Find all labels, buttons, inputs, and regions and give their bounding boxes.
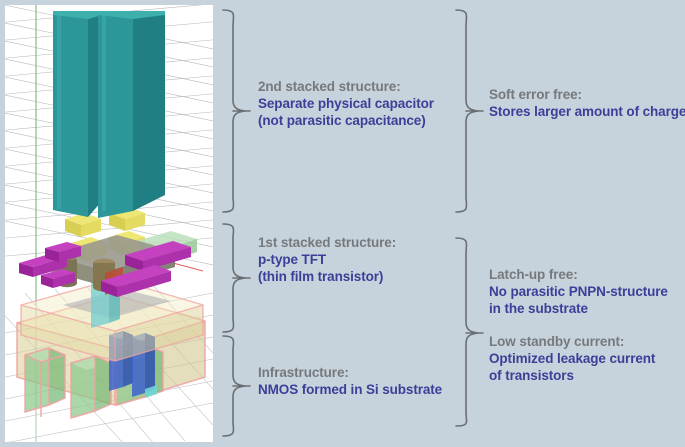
annotation-heading: 1st stacked structure: [258,234,396,251]
annotation-first-stacked-structure: 1st stacked structure: p-type TFT (thin … [258,234,396,285]
annotation-soft-error-free: Soft error free: Stores larger amount of… [489,86,685,120]
annotation-line: Optimized leakage current [489,350,655,367]
annotation-infrastructure: Infrastructure: NMOS formed in Si substr… [258,364,442,398]
annotation-line: (not parasitic capacitance) [258,112,434,129]
annotation-line: Stores larger amount of charge [489,103,685,120]
bracket-soft-error-free [452,8,486,213]
annotation-heading: 2nd stacked structure: [258,78,434,95]
annotation-line: of transistors [489,367,655,384]
annotation-low-standby-current: Low standby current: Optimized leakage c… [489,333,655,384]
capacitor-pillars [53,11,165,237]
figure-root: 2nd stacked structure: Separate physical… [0,0,685,447]
illustration-panel [5,5,213,442]
bracket-infrastructure [219,334,253,438]
annotation-heading: Low standby current: [489,333,655,350]
memory-cell-3d-render [5,5,213,442]
annotation-heading: Infrastructure: [258,364,442,381]
annotation-heading: Latch-up free: [489,266,668,283]
annotation-line: NMOS formed in Si substrate [258,381,442,398]
annotation-line: No parasitic PNPN-structure [489,283,668,300]
annotation-heading: Soft error free: [489,86,685,103]
annotation-second-stacked-structure: 2nd stacked structure: Separate physical… [258,78,434,129]
bracket-latchup-and-standby [452,236,486,428]
annotation-line: p-type TFT [258,251,396,268]
bracket-first-stacked-structure [219,222,253,334]
annotation-line: in the substrate [489,300,668,317]
annotation-line: Separate physical capacitor [258,95,434,112]
bracket-second-stacked-structure [219,8,253,213]
annotation-latch-up-free: Latch-up free: No parasitic PNPN-structu… [489,266,668,317]
annotation-line: (thin film transistor) [258,268,396,285]
